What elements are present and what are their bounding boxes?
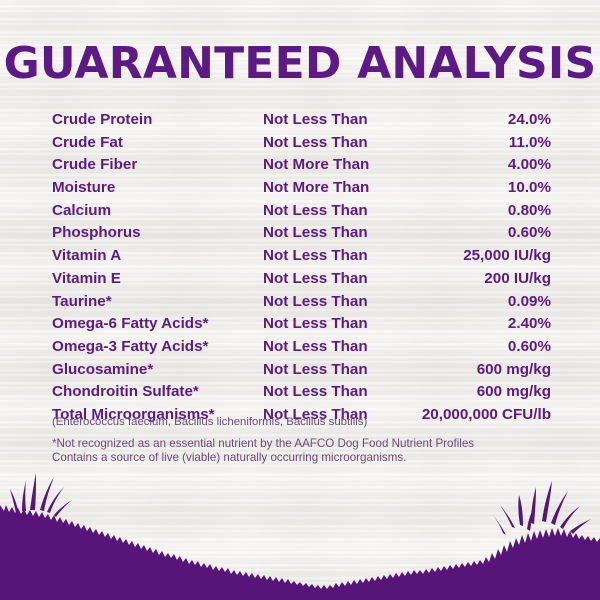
table-row: Omega-6 Fatty Acids*Not Less Than2.40% xyxy=(52,315,552,338)
footnote-line-1: *Not recognized as an essential nutrient… xyxy=(52,437,474,451)
table-row: Vitamin ANot Less Than25,000 IU/kg xyxy=(52,247,552,270)
footnotes: *Not recognized as an essential nutrient… xyxy=(52,437,474,464)
nutrient-value: 24.0% xyxy=(413,111,552,128)
nutrient-name: Moisture xyxy=(52,179,263,196)
table-row: Taurine*Not Less Than0.09% xyxy=(52,293,552,316)
table-row: CalciumNot Less Than0.80% xyxy=(52,202,552,225)
nutrient-name: Omega-3 Fatty Acids* xyxy=(52,338,263,355)
nutrient-value: 600 mg/kg xyxy=(413,383,552,400)
nutrient-name: Omega-6 Fatty Acids* xyxy=(52,315,263,332)
table-row: Omega-3 Fatty Acids*Not Less Than0.60% xyxy=(52,338,552,361)
nutrient-name: Crude Fiber xyxy=(52,156,263,173)
table-row: PhosphorusNot Less Than0.60% xyxy=(52,224,552,247)
nutrient-name: Crude Fat xyxy=(52,134,263,151)
footnote-line-2: Contains a source of live (viable) natur… xyxy=(52,451,474,465)
nutrient-value: 600 mg/kg xyxy=(413,361,552,378)
nutrient-value: 11.0% xyxy=(413,134,552,151)
nutrient-qualifier: Not Less Than xyxy=(263,383,413,400)
grass-shape xyxy=(0,473,600,600)
table-row: Chondroitin Sulfate*Not Less Than600 mg/… xyxy=(52,383,552,406)
probiotic-strains-note: (Enterococcus faecium, Bacillus lichenif… xyxy=(52,415,367,429)
table-row: Crude FatNot Less Than11.0% xyxy=(52,134,552,157)
nutrient-value: 25,000 IU/kg xyxy=(413,247,552,264)
nutrient-qualifier: Not Less Than xyxy=(263,224,413,241)
nutrient-name: Chondroitin Sulfate* xyxy=(52,383,263,400)
nutrient-value: 0.80% xyxy=(413,202,552,219)
table-row: MoistureNot More Than10.0% xyxy=(52,179,552,202)
nutrient-name: Vitamin A xyxy=(52,247,263,264)
nutrient-value: 2.40% xyxy=(413,315,552,332)
table-row: Crude FiberNot More Than4.00% xyxy=(52,156,552,179)
nutrient-value: 4.00% xyxy=(413,156,552,173)
page-title: GUARANTEED ANALYSIS xyxy=(0,40,600,88)
nutrient-value: 20,000,000 CFU/lb xyxy=(413,406,552,423)
nutrient-qualifier: Not Less Than xyxy=(263,293,413,310)
nutrient-name: Crude Protein xyxy=(52,111,263,128)
nutrient-value: 0.60% xyxy=(413,224,552,241)
grass-silhouette xyxy=(0,465,600,600)
nutrient-qualifier: Not Less Than xyxy=(263,338,413,355)
nutrient-qualifier: Not More Than xyxy=(263,179,413,196)
nutrient-qualifier: Not Less Than xyxy=(263,247,413,264)
nutrient-qualifier: Not Less Than xyxy=(263,202,413,219)
nutrient-value: 200 IU/kg xyxy=(413,270,552,287)
nutrient-qualifier: Not Less Than xyxy=(263,270,413,287)
nutrition-table: Crude ProteinNot Less Than24.0%Crude Fat… xyxy=(52,111,552,429)
nutrient-qualifier: Not Less Than xyxy=(263,361,413,378)
nutrient-name: Phosphorus xyxy=(52,224,263,241)
nutrient-name: Calcium xyxy=(52,202,263,219)
nutrient-value: 10.0% xyxy=(413,179,552,196)
nutrient-value: 0.60% xyxy=(413,338,552,355)
table-row: Glucosamine*Not Less Than600 mg/kg xyxy=(52,361,552,384)
nutrient-qualifier: Not Less Than xyxy=(263,134,413,151)
nutrient-name: Glucosamine* xyxy=(52,361,263,378)
nutrient-qualifier: Not More Than xyxy=(263,156,413,173)
nutrient-value: 0.09% xyxy=(413,293,552,310)
nutrient-name: Taurine* xyxy=(52,293,263,310)
nutrient-qualifier: Not Less Than xyxy=(263,111,413,128)
nutrient-qualifier: Not Less Than xyxy=(263,315,413,332)
nutrient-name: Vitamin E xyxy=(52,270,263,287)
guaranteed-analysis-panel: GUARANTEED ANALYSIS Crude ProteinNot Les… xyxy=(0,0,600,600)
table-row: Crude ProteinNot Less Than24.0% xyxy=(52,111,552,134)
table-row: Vitamin ENot Less Than200 IU/kg xyxy=(52,270,552,293)
